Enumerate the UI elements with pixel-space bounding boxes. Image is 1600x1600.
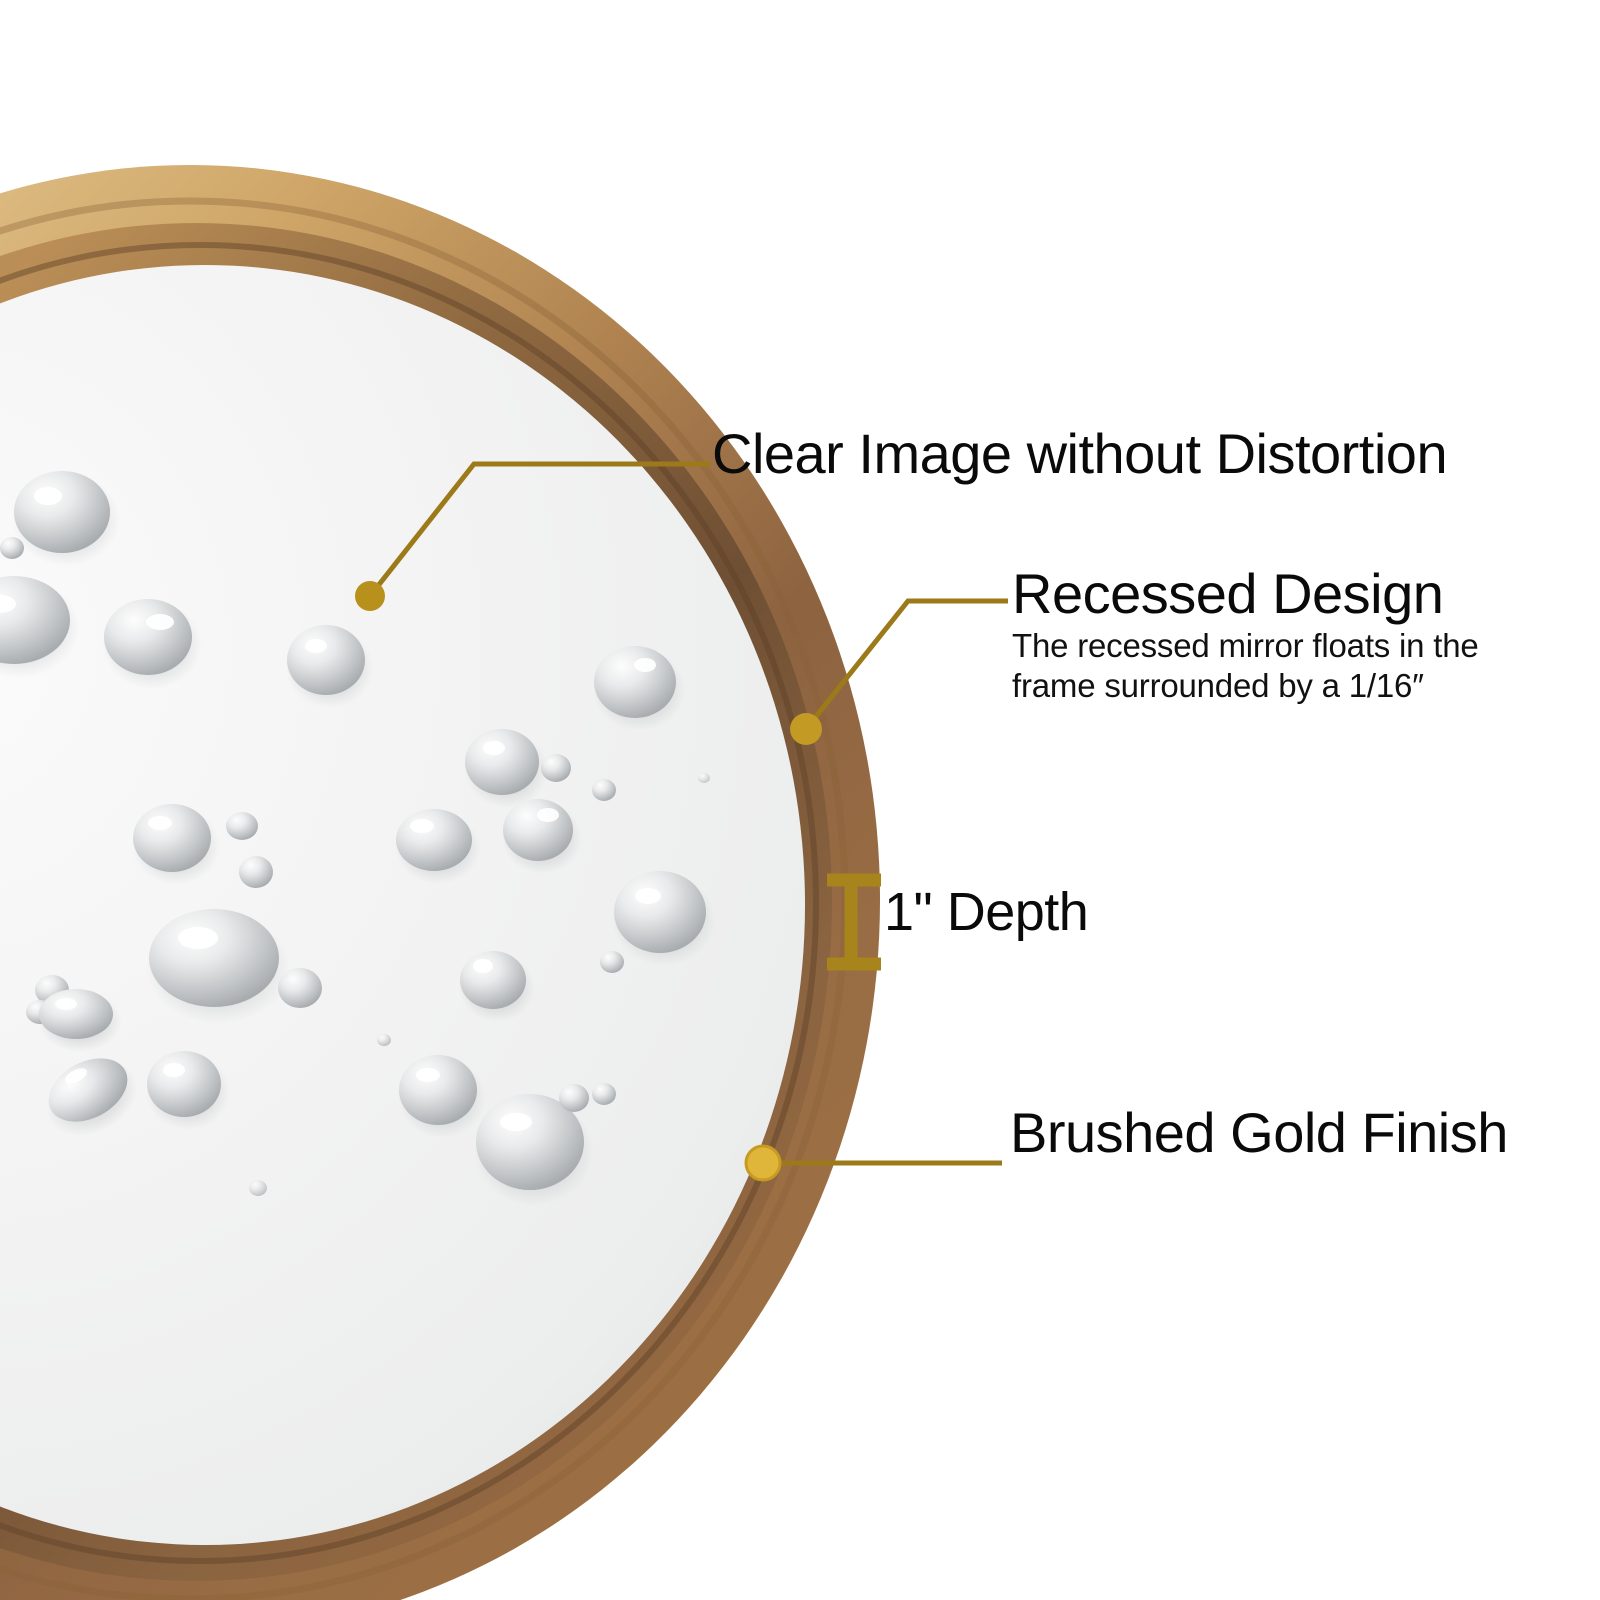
callout-body-recessed-design: The recessed mirror floats in the frame …: [1012, 626, 1479, 707]
callout-title-brushed-gold-finish: Brushed Gold Finish: [1010, 1104, 1508, 1161]
callout-dot-brushed-gold-finish: [746, 1146, 780, 1180]
callout-dot-clear-image: [355, 581, 385, 611]
callout-depth: 1" Depth: [884, 885, 1088, 940]
callout-title-recessed-design: Recessed Design: [1012, 565, 1479, 622]
product-feature-infographic: Clear Image without Distortion Recessed …: [0, 0, 1600, 1600]
callout-title-clear-image: Clear Image without Distortion: [712, 425, 1447, 482]
callout-recessed-design: Recessed Design The recessed mirror floa…: [1012, 565, 1479, 707]
mirror-product-image: [0, 0, 1600, 1600]
callout-title-depth: 1" Depth: [884, 885, 1088, 940]
callout-body-line-1: The recessed mirror floats in the: [1012, 626, 1479, 666]
callout-brushed-gold-finish: Brushed Gold Finish: [1010, 1104, 1508, 1161]
callout-clear-image: Clear Image without Distortion: [712, 425, 1447, 482]
callout-body-line-2: frame surrounded by a 1/16″: [1012, 666, 1479, 706]
callout-dot-recessed-design: [790, 713, 822, 745]
